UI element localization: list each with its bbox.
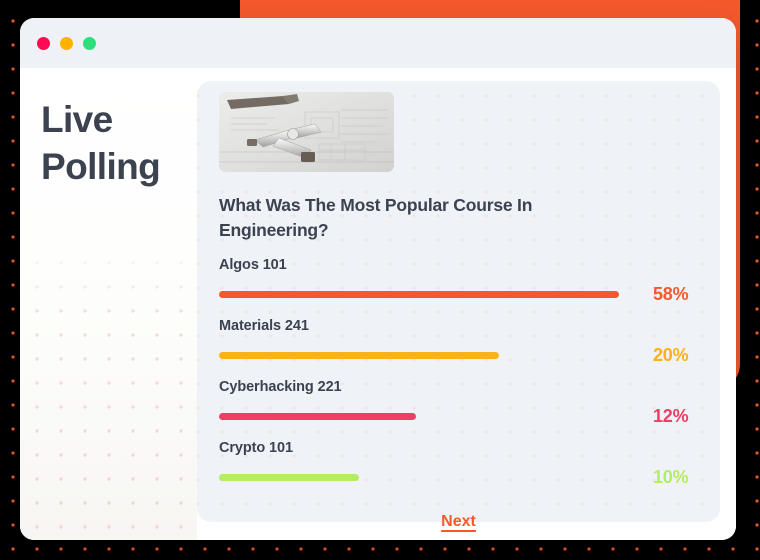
poll-option[interactable]: Algos 101 58% bbox=[219, 257, 709, 318]
option-bar-row: 20% bbox=[219, 346, 709, 366]
bar-fill bbox=[219, 291, 619, 298]
option-label: Materials 241 bbox=[219, 318, 709, 334]
poll-options: Algos 101 58% Materials 241 bbox=[219, 257, 709, 501]
minimize-icon[interactable] bbox=[60, 37, 73, 50]
poll-image bbox=[219, 92, 394, 172]
next-container: Next bbox=[219, 513, 698, 531]
option-bar-row: 12% bbox=[219, 407, 709, 427]
option-label: Cyberhacking 221 bbox=[219, 379, 709, 395]
screenshot-stage: Live Polling bbox=[0, 0, 760, 560]
option-percent: 12% bbox=[653, 406, 688, 427]
bar-fill bbox=[219, 413, 416, 420]
bar-fill bbox=[219, 474, 359, 481]
option-percent: 10% bbox=[653, 467, 688, 488]
poll-question: What Was The Most Popular Course In Engi… bbox=[219, 193, 589, 243]
close-icon[interactable] bbox=[37, 37, 50, 50]
poll-option[interactable]: Cyberhacking 221 12% bbox=[219, 379, 709, 440]
option-label: Algos 101 bbox=[219, 257, 709, 273]
poll-option[interactable]: Crypto 101 10% bbox=[219, 440, 709, 501]
poll-option[interactable]: Materials 241 20% bbox=[219, 318, 709, 379]
bar-fill bbox=[219, 352, 499, 359]
option-percent: 20% bbox=[653, 345, 688, 366]
maximize-icon[interactable] bbox=[83, 37, 96, 50]
next-button[interactable]: Next bbox=[441, 513, 476, 531]
option-percent: 58% bbox=[653, 284, 688, 305]
poll-card: What Was The Most Popular Course In Engi… bbox=[197, 81, 720, 522]
option-bar-row: 10% bbox=[219, 468, 709, 488]
bar-track bbox=[219, 474, 619, 481]
browser-window: Live Polling bbox=[20, 18, 736, 540]
window-titlebar bbox=[20, 18, 736, 68]
option-bar-row: 58% bbox=[219, 285, 709, 305]
option-label: Crypto 101 bbox=[219, 440, 709, 456]
bar-track bbox=[219, 413, 619, 420]
window-body: Live Polling bbox=[20, 68, 736, 540]
page-title: Live Polling bbox=[41, 96, 197, 191]
bar-track bbox=[219, 352, 619, 359]
sidebar: Live Polling bbox=[20, 68, 197, 540]
bar-track bbox=[219, 291, 619, 298]
